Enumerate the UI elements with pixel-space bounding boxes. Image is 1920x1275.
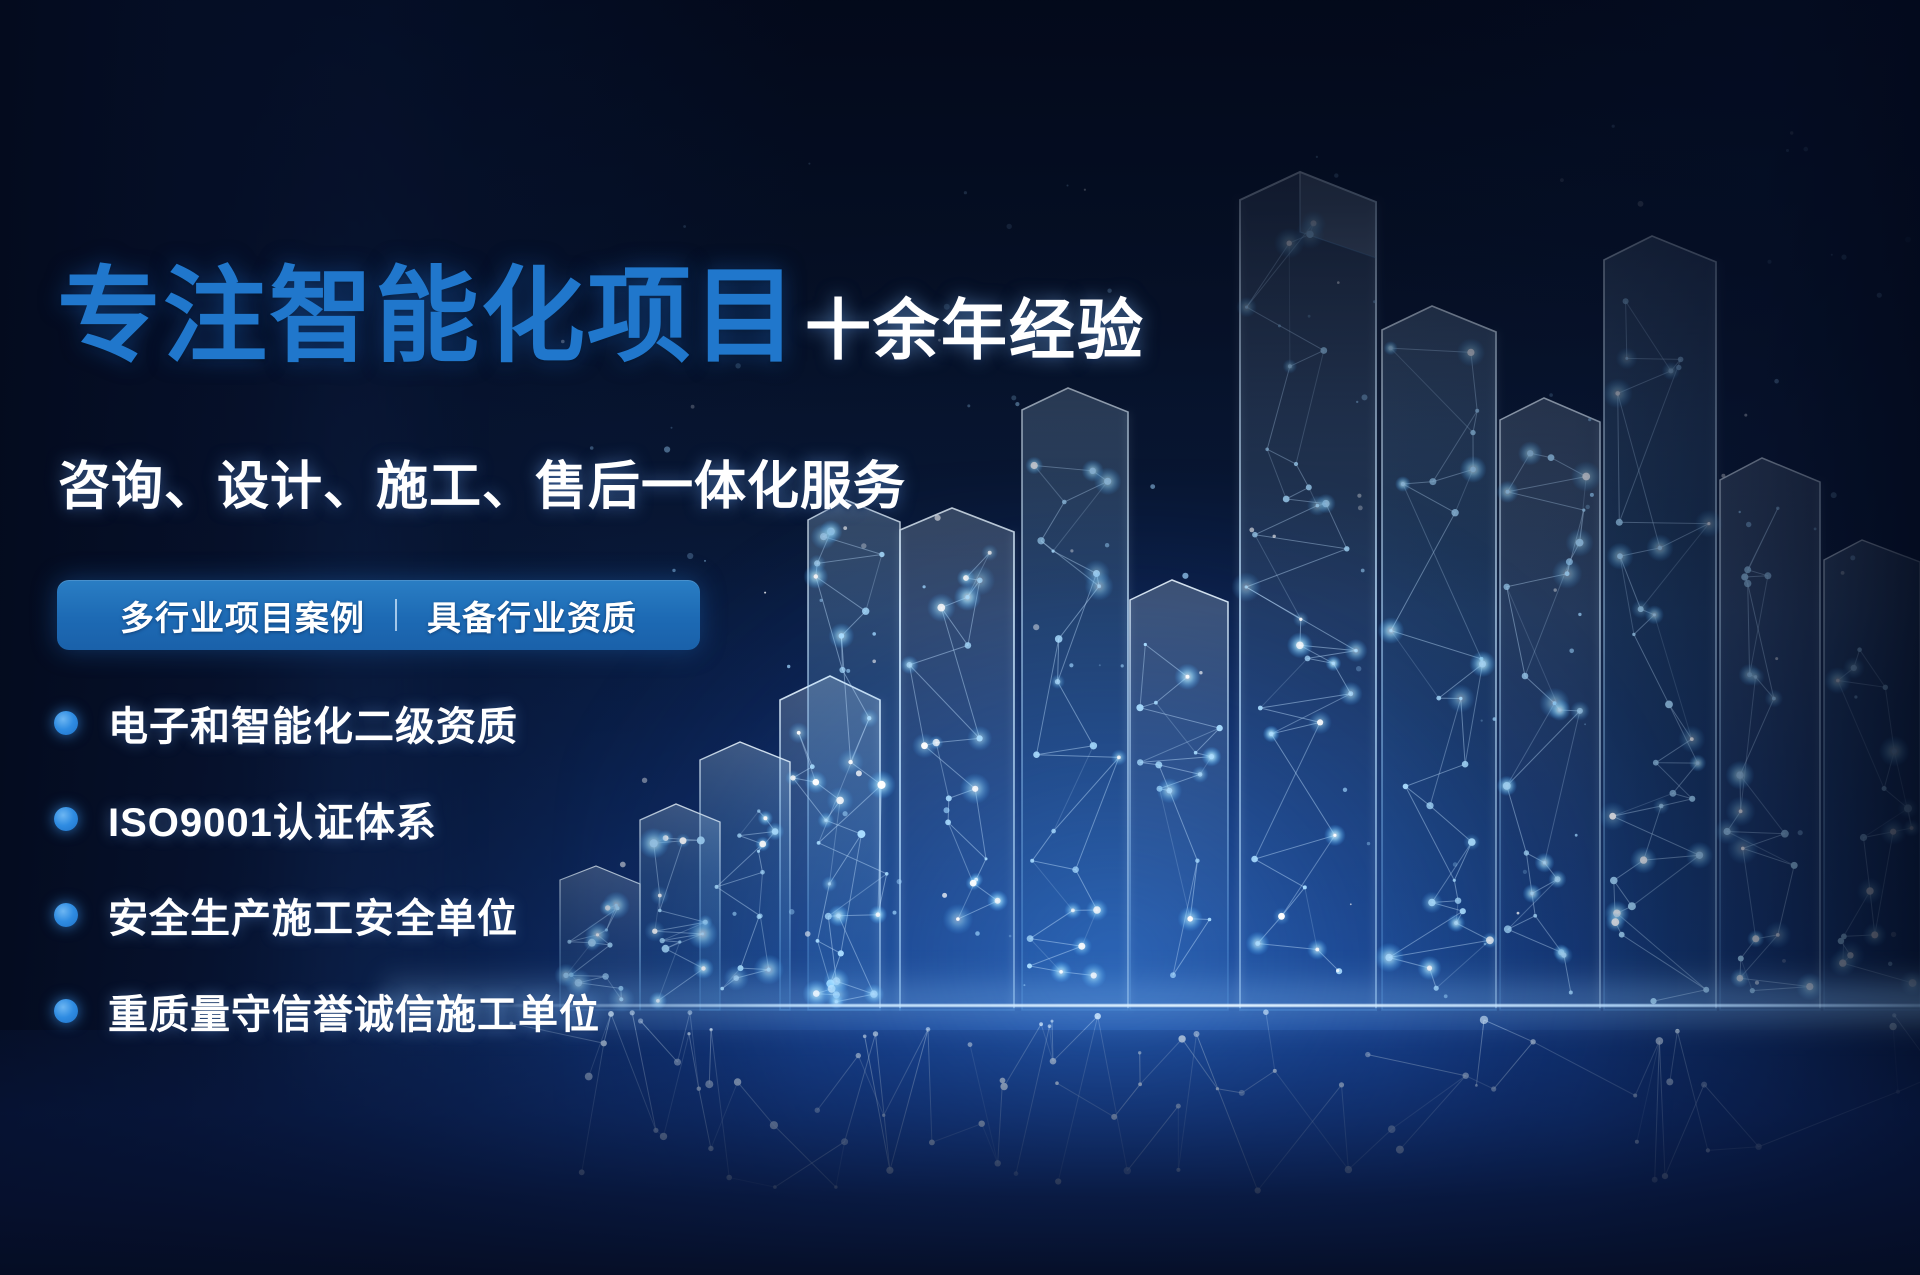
bullet-item: 重质量守信誉诚信施工单位	[54, 982, 600, 1040]
pill-label-right: 具备行业资质	[427, 591, 637, 640]
text-content-layer: 专注智能化项目 十余年经验 咨询、设计、施工、售后一体化服务 多行业项目案例 具…	[0, 0, 1920, 1275]
headline-main-text: 专注智能化项目	[57, 265, 799, 369]
bullet-item: 电子和智能化二级资质	[54, 694, 600, 752]
bullet-label: ISO9001认证体系	[108, 790, 437, 848]
subtitle-text: 咨询、设计、施工、售后一体化服务	[58, 444, 906, 519]
headline-highlight-text: 十余年经验	[805, 297, 1145, 369]
headline: 专注智能化项目 十余年经验	[57, 265, 1145, 369]
bullet-dot-icon	[54, 903, 78, 927]
bullet-label: 电子和智能化二级资质	[108, 694, 518, 752]
bullet-dot-icon	[54, 807, 78, 831]
qualification-bullet-list: 电子和智能化二级资质ISO9001认证体系安全生产施工安全单位重质量守信誉诚信施…	[54, 694, 600, 1040]
pill-separator-icon	[395, 599, 397, 631]
pill-label-left: 多行业项目案例	[120, 591, 365, 640]
bullet-label: 安全生产施工安全单位	[108, 886, 518, 944]
bullet-item: ISO9001认证体系	[54, 790, 600, 848]
bullet-dot-icon	[54, 999, 78, 1023]
bullet-dot-icon	[54, 711, 78, 735]
hero-banner: 专注智能化项目 十余年经验 咨询、设计、施工、售后一体化服务 多行业项目案例 具…	[0, 0, 1920, 1275]
bullet-item: 安全生产施工安全单位	[54, 886, 600, 944]
bullet-label: 重质量守信誉诚信施工单位	[108, 982, 600, 1040]
credentials-pill-button[interactable]: 多行业项目案例 具备行业资质	[57, 580, 700, 650]
